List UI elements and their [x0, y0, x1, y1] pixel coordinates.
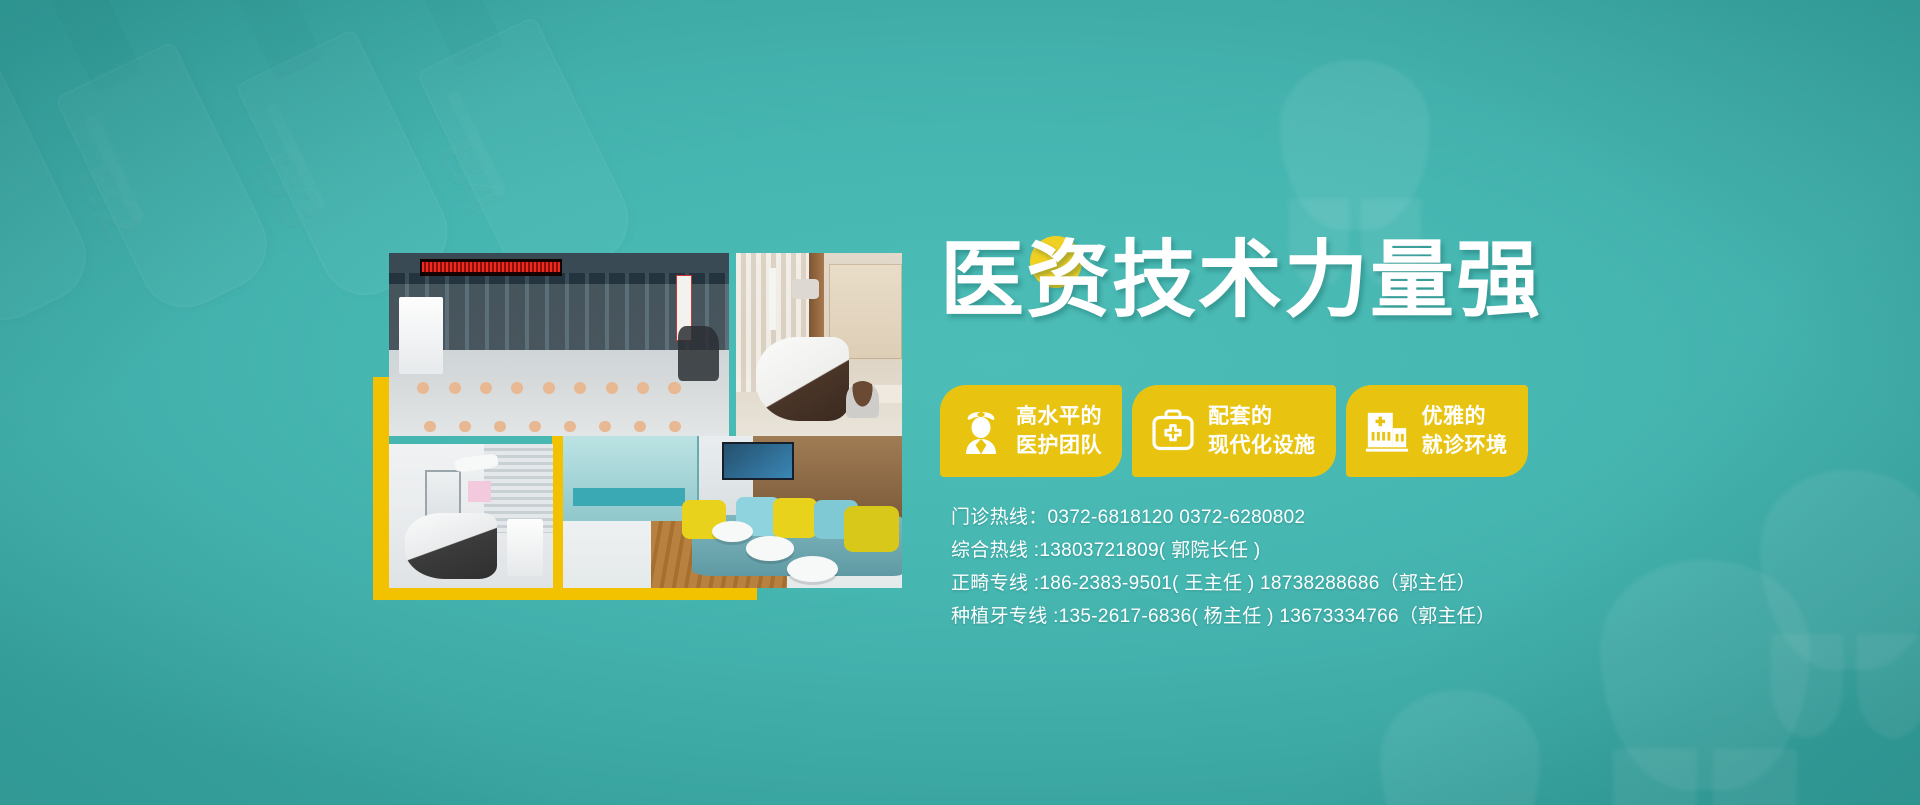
- feature-badge-label: 配套的 现代化设施: [1208, 402, 1316, 460]
- dental-team-group-photo: [389, 253, 729, 436]
- medical-kit-icon: [1150, 406, 1196, 456]
- feature-badge-line2: 就诊环境: [1422, 434, 1508, 457]
- led-banner-text: [422, 262, 559, 272]
- dental-treatment-room-photo: [736, 253, 902, 436]
- contact-line-implant: 种植牙专线 :135-2617-6836( 杨主任 ) 13673334766（…: [951, 600, 1495, 633]
- dentist-stool: [846, 381, 879, 418]
- cushion: [773, 498, 817, 538]
- clinic-waiting-lounge-photo: [563, 436, 902, 588]
- contact-info-block: 门诊热线：0372-6818120 0372-6280802 综合热线 :138…: [951, 501, 1495, 633]
- nurse-icon: [958, 406, 1004, 456]
- instrument-cart: [507, 519, 543, 577]
- wall-tv: [722, 442, 794, 479]
- dental-chair: [405, 513, 497, 579]
- staff-front-row: [416, 324, 708, 432]
- feature-badge-line1: 优雅的: [1422, 405, 1487, 428]
- hospital-building-icon: [1364, 406, 1410, 456]
- coffee-table: [787, 556, 838, 582]
- dental-operatory-photo: [389, 444, 553, 588]
- feature-badge-label: 高水平的 医护团队: [1016, 402, 1102, 460]
- dental-lamp: [792, 279, 819, 299]
- contact-line-outpatient: 门诊热线：0372-6818120 0372-6280802: [951, 501, 1495, 534]
- collage-frame-left: [373, 377, 389, 600]
- contact-line-orthodontics: 正畸专线 :186-2383-9501( 王主任 ) 18738288686（郭…: [951, 567, 1495, 600]
- feature-badge-label: 优雅的 就诊环境: [1422, 402, 1508, 460]
- led-banner: [420, 259, 563, 275]
- coffee-table: [746, 536, 793, 560]
- headline-block: 医资技术力量强: [940, 228, 1580, 348]
- glass-partition: [563, 436, 699, 530]
- feature-badge-modern-facilities[interactable]: 配套的 现代化设施: [1132, 385, 1336, 477]
- contact-line-general: 综合热线 :13803721809( 郭院长任 ): [951, 534, 1495, 567]
- wall-poster: [468, 481, 491, 501]
- feature-badge-medical-team[interactable]: 高水平的 医护团队: [940, 385, 1122, 477]
- feature-badge-line2: 现代化设施: [1208, 434, 1316, 457]
- feature-badge-line1: 高水平的: [1016, 405, 1102, 428]
- page-title: 医资技术力量强: [940, 228, 1542, 332]
- lamp-arm: [769, 268, 776, 330]
- feature-badge-list: 高水平的 医护团队 配套的 现代化设施: [940, 385, 1528, 477]
- staff-group: [389, 286, 729, 432]
- feature-badge-line2: 医护团队: [1016, 434, 1102, 457]
- clinic-promo-banner: B1 B2 B3 B4: [0, 0, 1920, 805]
- cushion: [844, 506, 898, 552]
- reception-desk: [573, 488, 685, 506]
- feature-badge-line1: 配套的: [1208, 405, 1273, 428]
- dental-chair: [756, 337, 849, 421]
- feature-badge-elegant-environment[interactable]: 优雅的 就诊环境: [1346, 385, 1528, 477]
